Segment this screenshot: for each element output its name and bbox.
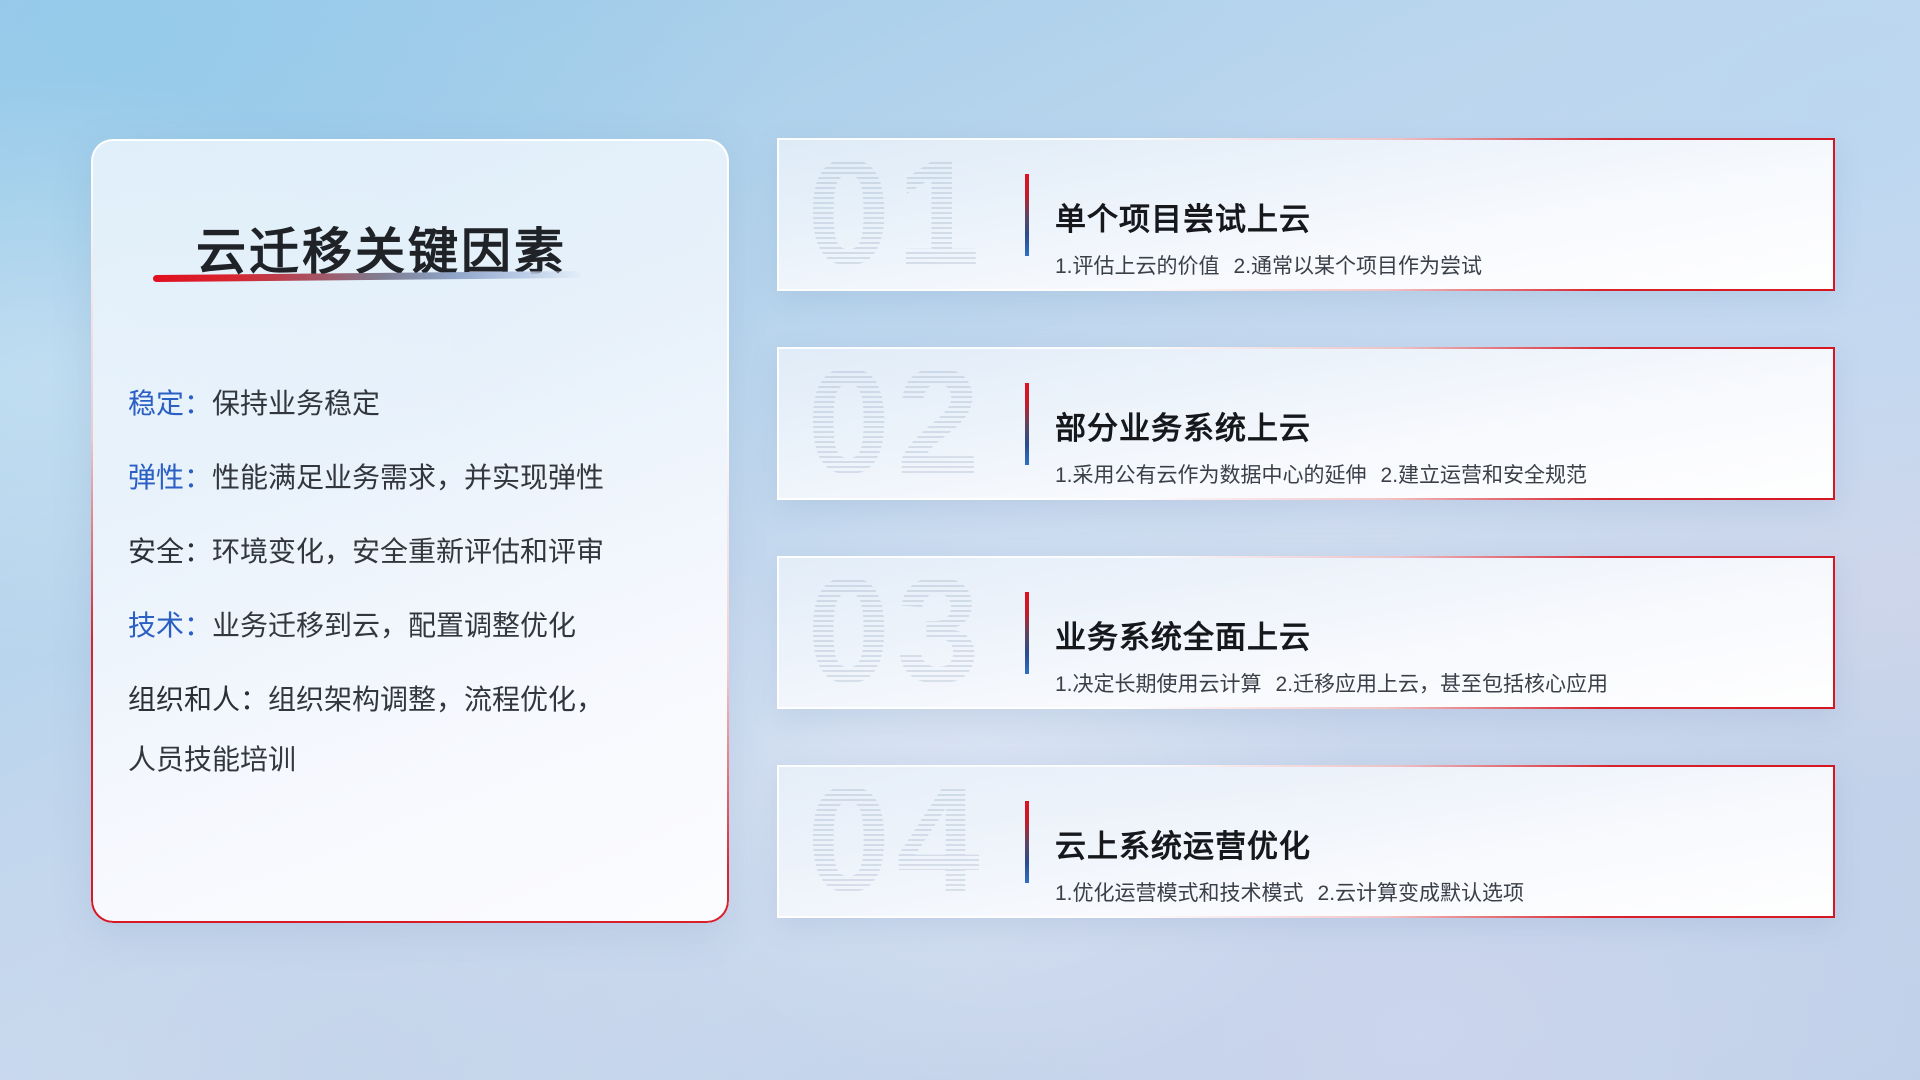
step-point-2: 2.通常以某个项目作为尝试 bbox=[1234, 255, 1483, 278]
step-number-watermark: 01 bbox=[807, 138, 986, 291]
factor-label: 组织和人： bbox=[128, 684, 268, 715]
step-subtitle: 1.评估上云的价值2.通常以某个项目作为尝试 bbox=[1055, 250, 1482, 280]
factor-text-continuation: 人员技能培训 bbox=[128, 741, 608, 779]
factor-label: 弹性： bbox=[128, 462, 212, 493]
step-accent-bar bbox=[1025, 592, 1029, 674]
step-number-watermark: 02 bbox=[807, 347, 986, 500]
list-item: 弹性：性能满足业务需求，并实现弹性 bbox=[128, 459, 608, 497]
step-accent-bar bbox=[1025, 801, 1029, 883]
step-subtitle: 1.采用公有云作为数据中心的延伸2.建立运营和安全规范 bbox=[1055, 459, 1587, 489]
list-item: 技术：业务迁移到云，配置调整优化 bbox=[128, 607, 608, 645]
step-accent-bar bbox=[1025, 383, 1029, 465]
step-card-01[interactable]: 01 单个项目尝试上云 1.评估上云的价值2.通常以某个项目作为尝试 bbox=[777, 138, 1835, 291]
step-number-watermark: 04 bbox=[807, 765, 986, 918]
factor-label: 安全： bbox=[128, 536, 212, 567]
step-title: 云上系统运营优化 bbox=[1055, 821, 1311, 866]
factor-text: 业务迁移到云，配置调整优化 bbox=[212, 610, 576, 641]
step-subtitle: 1.优化运营模式和技术模式2.云计算变成默认选项 bbox=[1055, 877, 1524, 907]
list-item: 安全：环境变化，安全重新评估和评审 bbox=[128, 533, 608, 571]
step-card-03[interactable]: 03 业务系统全面上云 1.决定长期使用云计算2.迁移应用上云，甚至包括核心应用 bbox=[777, 556, 1835, 709]
migration-steps-list: 01 单个项目尝试上云 1.评估上云的价值2.通常以某个项目作为尝试 02 部分… bbox=[777, 138, 1835, 974]
factor-text: 性能满足业务需求，并实现弹性 bbox=[212, 462, 604, 493]
factor-text: 组织架构调整，流程优化， bbox=[268, 684, 604, 715]
step-point-1: 1.采用公有云作为数据中心的延伸 bbox=[1055, 464, 1367, 487]
list-item: 稳定：保持业务稳定 bbox=[128, 385, 608, 423]
factor-label: 稳定： bbox=[128, 388, 212, 419]
step-number-watermark: 03 bbox=[807, 556, 986, 709]
step-point-1: 1.优化运营模式和技术模式 bbox=[1055, 882, 1304, 905]
step-title: 业务系统全面上云 bbox=[1055, 612, 1311, 657]
step-point-2: 2.迁移应用上云，甚至包括核心应用 bbox=[1276, 673, 1609, 696]
factor-text: 保持业务稳定 bbox=[212, 388, 380, 419]
factor-text: 环境变化，安全重新评估和评审 bbox=[212, 536, 604, 567]
step-card-02[interactable]: 02 部分业务系统上云 1.采用公有云作为数据中心的延伸2.建立运营和安全规范 bbox=[777, 347, 1835, 500]
step-subtitle: 1.决定长期使用云计算2.迁移应用上云，甚至包括核心应用 bbox=[1055, 668, 1608, 698]
step-accent-bar bbox=[1025, 174, 1029, 256]
step-title: 单个项目尝试上云 bbox=[1055, 194, 1311, 239]
step-point-2: 2.云计算变成默认选项 bbox=[1318, 882, 1525, 905]
step-card-04[interactable]: 04 云上系统运营优化 1.优化运营模式和技术模式2.云计算变成默认选项 bbox=[777, 765, 1835, 918]
factor-label: 技术： bbox=[128, 610, 212, 641]
list-item: 组织和人：组织架构调整，流程优化， bbox=[128, 681, 608, 719]
step-point-2: 2.建立运营和安全规范 bbox=[1381, 464, 1588, 487]
step-point-1: 1.决定长期使用云计算 bbox=[1055, 673, 1262, 696]
factor-list: 稳定：保持业务稳定 弹性：性能满足业务需求，并实现弹性 安全：环境变化，安全重新… bbox=[128, 385, 608, 779]
step-title: 部分业务系统上云 bbox=[1055, 403, 1311, 448]
step-point-1: 1.评估上云的价值 bbox=[1055, 255, 1220, 278]
